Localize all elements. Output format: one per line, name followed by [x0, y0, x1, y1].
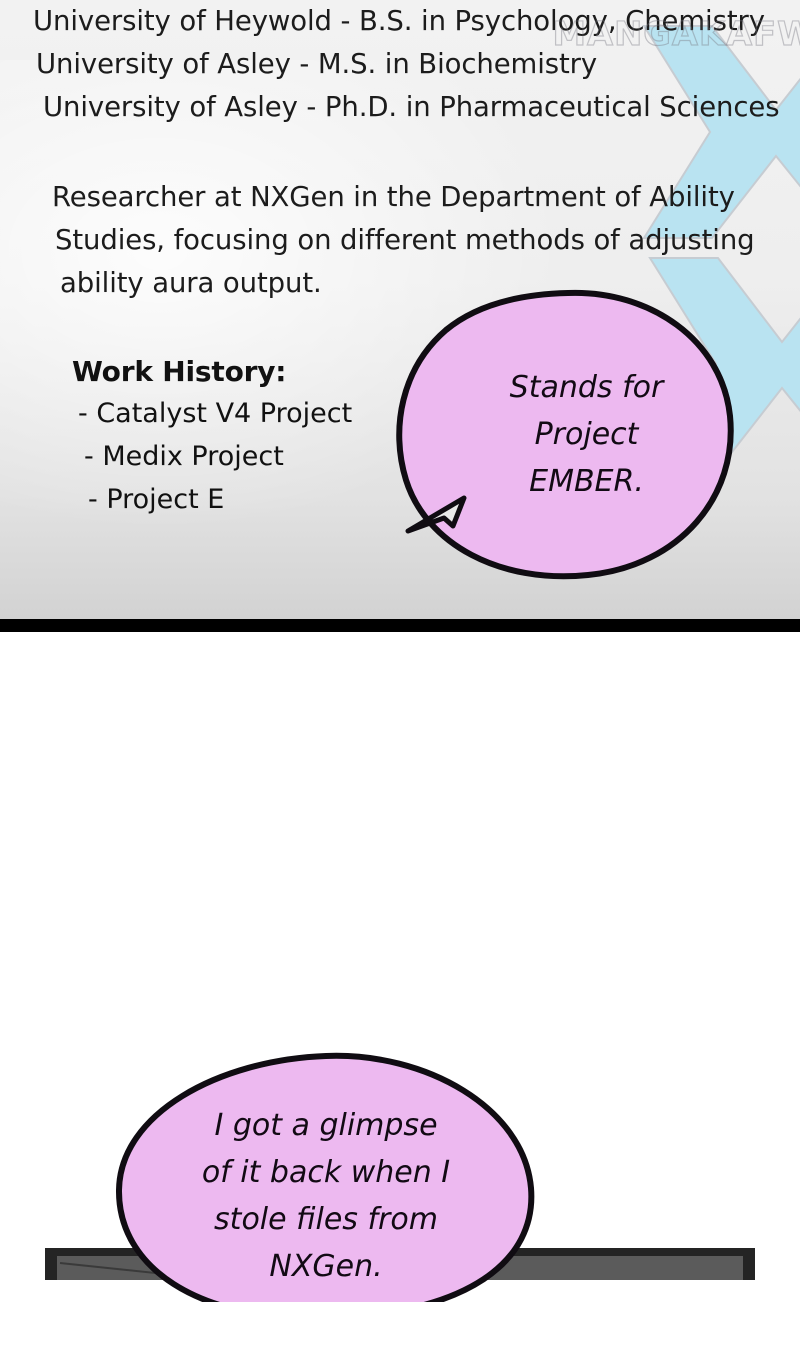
panel-divider	[0, 619, 800, 632]
comic-panel-top: University of Heywold - B.S. in Psycholo…	[0, 0, 800, 620]
education-text-block: University of Heywold - B.S. in Psycholo…	[0, 0, 800, 129]
speech-bubble-shape	[392, 288, 737, 580]
work-history-block: Work History: - Catalyst V4 Project - Me…	[0, 352, 430, 521]
work-history-item: - Medix Project	[0, 435, 430, 478]
speech-bubble-glimpse: I got a glimpse of it back when I stole …	[114, 1052, 538, 1302]
education-line-1: University of Heywold - B.S. in Psycholo…	[0, 0, 800, 43]
work-history-item: - Project E	[0, 478, 430, 521]
education-line-2: University of Asley - M.S. in Biochemist…	[0, 43, 800, 86]
education-line-3: University of Asley - Ph.D. in Pharmaceu…	[0, 86, 800, 129]
bio-text-block: Researcher at NXGen in the Department of…	[0, 176, 760, 305]
speech-bubble-shape	[114, 1052, 538, 1302]
bio-line-2: Studies, focusing on different methods o…	[0, 219, 760, 262]
work-history-title: Work History:	[0, 352, 430, 392]
work-history-list: - Catalyst V4 Project - Medix Project - …	[0, 392, 430, 521]
speech-bubble-ember: Stands for Project EMBER.	[392, 288, 737, 580]
work-history-item: - Catalyst V4 Project	[0, 392, 430, 435]
bio-line-1: Researcher at NXGen in the Department of…	[0, 176, 760, 219]
